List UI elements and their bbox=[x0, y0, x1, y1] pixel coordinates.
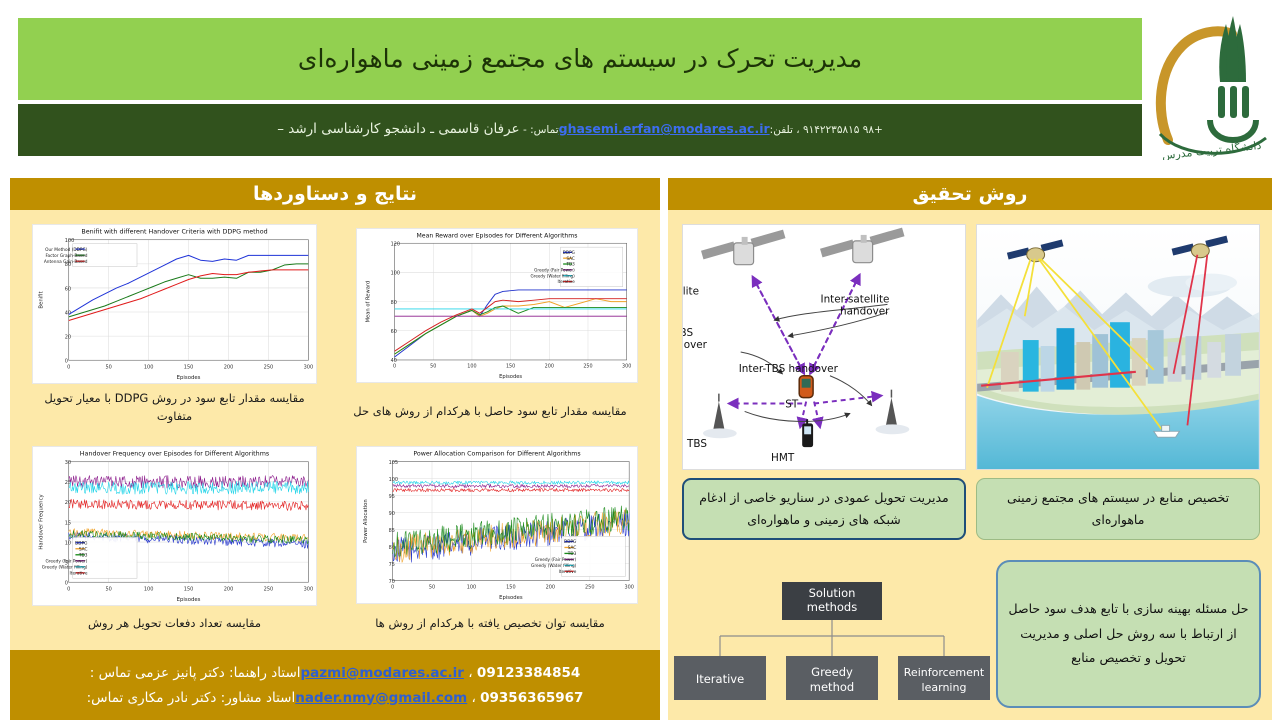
flow-root-line2: methods bbox=[807, 600, 857, 614]
svg-text:Episodes: Episodes bbox=[499, 374, 522, 380]
callout-resource-allocation: تخصیص منابع در سیستم های مجتمع زمینی ماه… bbox=[976, 478, 1260, 540]
svg-text:DDPG: DDPG bbox=[75, 540, 87, 546]
page-title: مدیریت تحرک در سیستم های مجتمع زمینی ماه… bbox=[270, 42, 890, 76]
svg-text:Greedy (Fair Power): Greedy (Fair Power) bbox=[45, 559, 87, 565]
svg-text:150: 150 bbox=[506, 364, 515, 370]
author-contact-label: تماس: - bbox=[520, 124, 559, 136]
author-line: +۹۸ ۹۱۴۲۲۳۵۸۱۵ ، تلفن:ghasemi.erfan@moda… bbox=[277, 121, 883, 139]
poster-title-bar: مدیریت تحرک در سیستم های مجتمع زمینی ماه… bbox=[18, 18, 1142, 100]
section-header-method-label: روش تحقیق bbox=[913, 183, 1028, 205]
svg-text:Episodes: Episodes bbox=[499, 595, 523, 601]
hmt-device-icon bbox=[802, 419, 813, 447]
svg-text:50: 50 bbox=[105, 586, 111, 592]
svg-text:15: 15 bbox=[65, 520, 71, 526]
svg-text:100: 100 bbox=[391, 271, 400, 277]
svg-text:Mean Reward over Episodes for: Mean Reward over Episodes for Different … bbox=[417, 232, 578, 239]
poster-root: مدیریت تحرک در سیستم های مجتمع زمینی ماه… bbox=[0, 0, 1280, 720]
svg-text:300: 300 bbox=[622, 364, 631, 370]
author-name: عرفان قاسمی ـ دانشجو کارشناسی ارشد – bbox=[277, 121, 519, 137]
svg-text:SAC: SAC bbox=[568, 545, 577, 550]
svg-text:200: 200 bbox=[546, 584, 555, 590]
chart-benefit-handover-criteria: 020406080100050100150200250300Benifit wi… bbox=[32, 224, 317, 384]
supervisor-label: استاد راهنما: دکتر پانیز عزمی تماس : bbox=[90, 665, 301, 681]
svg-text:Greedy (Fair Power): Greedy (Fair Power) bbox=[534, 268, 575, 273]
svg-text:0: 0 bbox=[67, 586, 70, 592]
section-header-results: نتایج و دستاوردها bbox=[10, 178, 660, 210]
svg-text:200: 200 bbox=[224, 586, 234, 592]
svg-text:50: 50 bbox=[429, 584, 435, 590]
svg-text:Greedy (Water filling): Greedy (Water filling) bbox=[531, 563, 577, 568]
label-sat-tbs-2: handover bbox=[683, 339, 708, 351]
svg-text:150: 150 bbox=[184, 364, 194, 370]
label-satellite: Satellite bbox=[683, 285, 699, 297]
svg-text:Factor Graph-Based: Factor Graph-Based bbox=[45, 253, 87, 259]
flow-child-iterative: Iterative bbox=[696, 672, 744, 686]
callout-optimization-text: حل مسئله بهینه سازی با تابع هدف سود حاصل… bbox=[1008, 597, 1249, 670]
svg-text:150: 150 bbox=[184, 586, 194, 592]
svg-text:250: 250 bbox=[585, 584, 594, 590]
svg-text:0: 0 bbox=[393, 364, 396, 370]
svg-text:50: 50 bbox=[430, 364, 436, 370]
label-inter-satellite-2: handover bbox=[840, 305, 890, 317]
solution-methods-flowchart: Solution methods Iterative Greedy method… bbox=[672, 570, 992, 715]
svg-text:90: 90 bbox=[389, 511, 395, 517]
author-bar: +۹۸ ۹۱۴۲۲۳۵۸۱۵ ، تلفن:ghasemi.erfan@moda… bbox=[18, 104, 1142, 156]
svg-text:100: 100 bbox=[467, 584, 476, 590]
svg-text:DDPG: DDPG bbox=[564, 539, 576, 544]
supervisor-phone: 09123384854 bbox=[477, 665, 580, 681]
flow-child-greedy-l1: Greedy bbox=[811, 665, 853, 679]
university-logo: دانشگاه تربیت مدرس bbox=[1148, 8, 1272, 160]
supervisor-line: 09123384854 ، pazmi@modares.ac.irاستاد ر… bbox=[90, 665, 580, 681]
flow-child-greedy-l2: method bbox=[810, 680, 854, 694]
svg-text:Power Allocation Comparison fo: Power Allocation Comparison for Differen… bbox=[413, 451, 580, 458]
label-inter-tbs: Inter-TBS handover bbox=[739, 363, 839, 375]
author-phone: +۹۸ ۹۱۴۲۲۳۵۸۱۵ bbox=[803, 124, 883, 136]
svg-text:75: 75 bbox=[389, 562, 395, 568]
svg-text:TD3: TD3 bbox=[567, 551, 577, 556]
svg-text:TD3: TD3 bbox=[78, 553, 88, 559]
svg-text:10: 10 bbox=[65, 540, 71, 546]
svg-text:Episodes: Episodes bbox=[177, 597, 201, 603]
svg-text:Handover Frequency over Episod: Handover Frequency over Episodes for Dif… bbox=[80, 451, 269, 458]
label-inter-satellite-1: Inter-satellite bbox=[821, 293, 890, 305]
svg-text:SAC: SAC bbox=[79, 547, 88, 553]
supervisor-separator: ، bbox=[464, 665, 477, 681]
satellite-city-image bbox=[976, 224, 1260, 470]
svg-text:150: 150 bbox=[506, 584, 515, 590]
svg-text:Our Method (DDPG): Our Method (DDPG) bbox=[45, 247, 88, 253]
advisor-separator: ، bbox=[467, 690, 480, 706]
flow-child-rl-l2: learning bbox=[922, 681, 967, 694]
label-sat-tbs-1: Satellite & TBS bbox=[683, 327, 693, 339]
section-header-results-label: نتایج و دستاوردها bbox=[253, 183, 417, 205]
label-st: ST bbox=[785, 399, 799, 411]
st-device-icon bbox=[799, 376, 813, 398]
svg-text:20: 20 bbox=[65, 334, 71, 340]
svg-text:DDPG: DDPG bbox=[563, 250, 575, 255]
flow-child-rl-l1: Reinforcement bbox=[904, 666, 985, 679]
svg-text:Episodes: Episodes bbox=[177, 375, 201, 381]
label-hmt: HMT bbox=[771, 452, 795, 464]
svg-text:95: 95 bbox=[389, 494, 395, 500]
section-header-method: روش تحقیق bbox=[668, 178, 1272, 210]
chart-caption-4: مقایسه توان تخصیص یافته با هرکدام از روش… bbox=[340, 615, 640, 633]
svg-text:250: 250 bbox=[583, 364, 592, 370]
svg-text:100: 100 bbox=[144, 364, 154, 370]
svg-text:300: 300 bbox=[304, 364, 314, 370]
svg-text:60: 60 bbox=[391, 329, 397, 335]
svg-text:85: 85 bbox=[389, 528, 395, 534]
svg-text:Iterative: Iterative bbox=[557, 279, 575, 284]
svg-text:200: 200 bbox=[224, 364, 234, 370]
svg-text:100: 100 bbox=[467, 364, 476, 370]
svg-text:50: 50 bbox=[105, 364, 111, 370]
svg-text:Benifit with different Handove: Benifit with different Handover Criteria… bbox=[81, 229, 267, 236]
svg-text:250: 250 bbox=[264, 586, 274, 592]
svg-text:دانشگاه تربیت مدرس: دانشگاه تربیت مدرس bbox=[1161, 139, 1262, 160]
label-tbs: TBS bbox=[686, 438, 707, 450]
supervisors-footer: 09123384854 ، pazmi@modares.ac.irاستاد ر… bbox=[10, 650, 660, 720]
svg-text:Greedy (Water filling): Greedy (Water filling) bbox=[42, 565, 88, 571]
svg-text:Handover Frequency: Handover Frequency bbox=[39, 494, 45, 549]
svg-text:80: 80 bbox=[391, 300, 397, 306]
svg-text:SAC: SAC bbox=[566, 256, 574, 261]
chart-handover-frequency: 051015202530050100150200250300Handover F… bbox=[32, 446, 317, 606]
flow-root-line1: Solution bbox=[809, 586, 856, 600]
author-email-link[interactable]: ghasemi.erfan@modares.ac.ir bbox=[559, 121, 770, 136]
svg-text:Iterative: Iterative bbox=[559, 569, 577, 574]
chart-caption-2: مقایسه مقدار تابع سود حاصل با هرکدام از … bbox=[330, 403, 650, 421]
callout-vertical-handover-text: مدیریت تحویل عمودی در سناریو خاصی از ادغ… bbox=[694, 487, 954, 531]
svg-text:60: 60 bbox=[65, 286, 71, 292]
svg-text:Power Allocation: Power Allocation bbox=[363, 499, 369, 543]
supervisor-email-link[interactable]: pazmi@modares.ac.ir bbox=[301, 665, 464, 681]
advisor-line: 09356365967 ، nader.nmy@gmail.comاستاد م… bbox=[87, 690, 584, 706]
svg-text:300: 300 bbox=[304, 586, 314, 592]
svg-text:TD3: TD3 bbox=[565, 262, 575, 267]
svg-text:0: 0 bbox=[67, 364, 70, 370]
callout-optimization: حل مسئله بهینه سازی با تابع هدف سود حاصل… bbox=[996, 560, 1261, 708]
callout-vertical-handover: مدیریت تحویل عمودی در سناریو خاصی از ادغ… bbox=[682, 478, 966, 540]
advisor-email-link[interactable]: nader.nmy@gmail.com bbox=[295, 690, 467, 706]
svg-text:0: 0 bbox=[391, 584, 394, 590]
svg-text:200: 200 bbox=[545, 364, 554, 370]
svg-text:120: 120 bbox=[391, 242, 400, 248]
svg-text:Benifit: Benifit bbox=[39, 291, 45, 308]
chart-power-allocation: 707580859095100105050100150200250300Powe… bbox=[356, 446, 638, 604]
svg-text:Iterative: Iterative bbox=[70, 571, 88, 577]
svg-text:100: 100 bbox=[65, 238, 75, 244]
svg-text:250: 250 bbox=[264, 364, 274, 370]
svg-text:Greedy (Water filling): Greedy (Water filling) bbox=[531, 273, 576, 278]
chart-caption-1: مقایسه مقدار تابع سود در روش DDPG با معی… bbox=[32, 390, 317, 426]
author-phone-label: ، تلفن: bbox=[770, 124, 803, 136]
svg-text:30: 30 bbox=[65, 460, 71, 466]
svg-text:300: 300 bbox=[624, 584, 633, 590]
handover-diagram-image: Satellite Inter-satellite handover Satel… bbox=[682, 224, 966, 470]
callout-resource-allocation-text: تخصیص منابع در سیستم های مجتمع زمینی ماه… bbox=[987, 487, 1249, 531]
chart-caption-3: مقایسه تعداد دفعات تحویل هر روش bbox=[32, 615, 317, 633]
svg-text:Antenna Gain-Based: Antenna Gain-Based bbox=[44, 259, 88, 265]
svg-text:100: 100 bbox=[144, 586, 154, 592]
advisor-label: استاد مشاور: دکتر نادر مکاری تماس: bbox=[87, 690, 296, 706]
advisor-phone: 09356365967 bbox=[480, 690, 583, 706]
svg-text:Mean of Reward: Mean of Reward bbox=[365, 281, 371, 323]
svg-text:Greedy (Fair Power): Greedy (Fair Power) bbox=[535, 557, 577, 562]
chart-mean-reward-episodes: 406080100120050100150200250300Mean Rewar… bbox=[356, 228, 638, 383]
svg-text:105: 105 bbox=[389, 460, 398, 466]
